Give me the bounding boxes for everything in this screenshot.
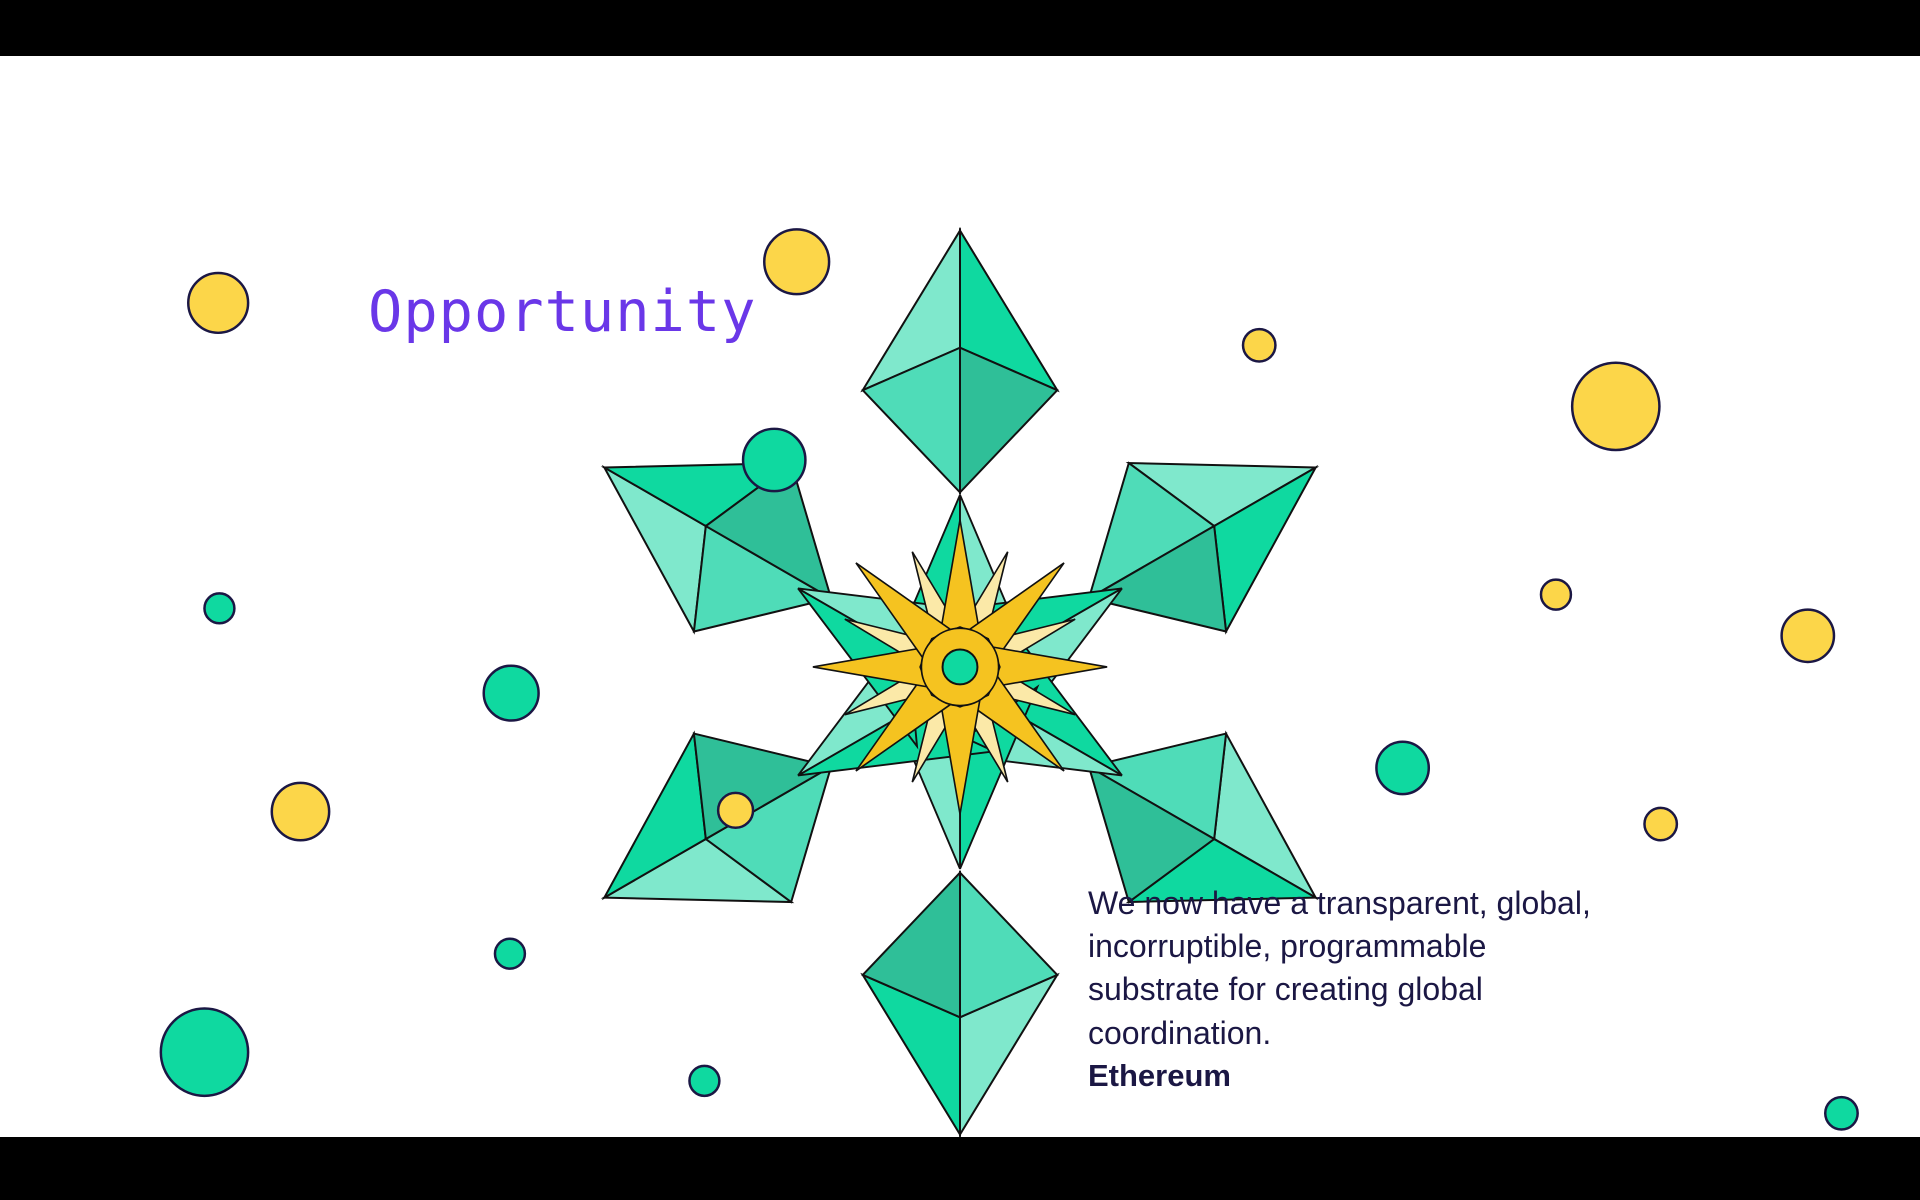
outer-diamond-upper-right	[1040, 383, 1364, 682]
outer-diamond-top	[863, 231, 1057, 493]
slide-content-area: Opportunity We now have a transparent, g…	[0, 56, 1920, 1137]
letterbox-top	[0, 0, 1920, 56]
circle-teal-7	[1376, 742, 1428, 794]
outer-diamond-upper-left	[556, 383, 880, 682]
central-star	[813, 520, 1107, 814]
circle-teal-5	[161, 1009, 248, 1096]
slide-canvas: Opportunity We now have a transparent, g…	[0, 0, 1920, 1200]
circle-yellow-1	[188, 273, 248, 333]
quote-text: We now have a transparent, global, incor…	[1088, 882, 1608, 1055]
ethereum-mandala-artwork	[0, 56, 1920, 1137]
quote-attribution: Ethereum	[1088, 1055, 1608, 1097]
circle-teal-6	[689, 1066, 719, 1096]
circle-yellow-6	[1782, 610, 1834, 662]
page-title: Opportunity	[368, 284, 757, 341]
circle-teal-8	[1825, 1097, 1857, 1129]
circle-yellow-5	[1541, 580, 1571, 610]
circle-yellow-7	[1644, 808, 1676, 840]
outer-diamond-bottom	[863, 873, 1057, 1135]
quote-block: We now have a transparent, global, incor…	[1088, 882, 1608, 1097]
outer-diamond-lower-left	[556, 682, 880, 981]
circle-teal-3	[743, 429, 805, 491]
circle-yellow-8	[272, 783, 329, 840]
circle-yellow-4	[1572, 363, 1659, 450]
circle-yellow-2	[764, 229, 829, 294]
circle-teal-2	[484, 666, 539, 721]
circle-yellow-3	[1243, 329, 1275, 361]
circle-teal-4	[495, 939, 525, 969]
circle-yellow-9	[718, 793, 753, 828]
star-center-dot	[943, 649, 978, 684]
circle-teal-1	[204, 593, 234, 623]
letterbox-bottom	[0, 1137, 1920, 1200]
